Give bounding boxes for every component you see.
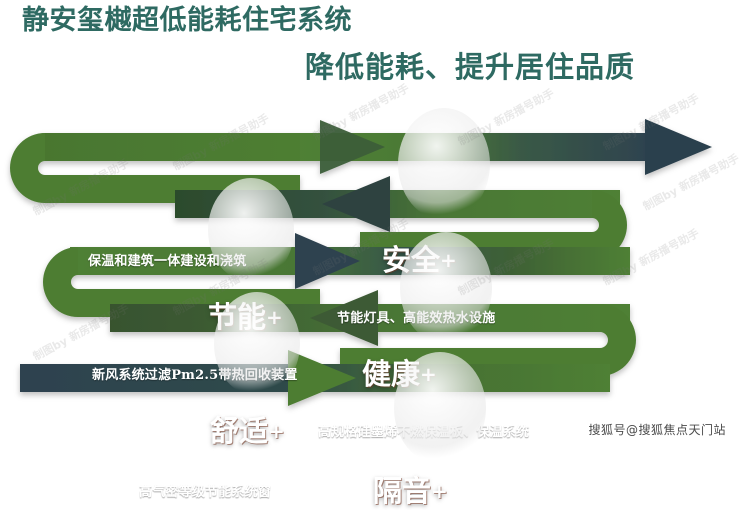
footer-watermark: 搜狐号@搜狐焦点天门站 xyxy=(588,421,726,438)
row-1-description: 保温和建筑一体建设和浇筑 xyxy=(88,250,246,269)
row-2-keyword-text: 节能 xyxy=(208,300,266,334)
row-5-description: 高气密等级节能系统窗 xyxy=(139,481,271,500)
screenshot-root: 静安玺樾超低能耗住宅系统 降低能耗、提升居住品质 xyxy=(0,0,740,450)
row-4-plus: + xyxy=(268,419,285,443)
row-3-description: 新风系统过滤Pm2.5带热回收装置 xyxy=(92,364,298,383)
row-3-keyword-text: 健康 xyxy=(362,357,420,391)
row-1-keyword: 安全+ xyxy=(382,237,457,279)
row-2-band xyxy=(175,190,620,218)
row-3-arrowhead xyxy=(295,233,360,289)
row-1-plus: + xyxy=(440,248,457,272)
row-5-keyword-text: 隔音 xyxy=(373,474,431,508)
row-3-keyword: 健康+ xyxy=(362,351,437,393)
row-2-arrowhead xyxy=(322,176,390,232)
row-5-plus: + xyxy=(431,479,448,503)
row-1-arrowhead xyxy=(645,119,712,175)
row-2-plus: + xyxy=(266,305,283,329)
row-4-keyword: 舒适+ xyxy=(210,408,285,450)
row-5-keyword: 隔音+ xyxy=(373,468,448,510)
serpentine-flow-diagram: 保温和建筑一体建设和浇筑 安全+ 节能灯具、高能效热水设施 节能+ 新风系统过滤… xyxy=(0,112,740,432)
page-subtitle: 降低能耗、提升居住品质 xyxy=(305,52,635,84)
row-2-description: 节能灯具、高能效热水设施 xyxy=(337,307,495,326)
row-4-description: 高规格硅墨烯不燃保温板、保温系统 xyxy=(318,421,529,440)
row-1-inner-arrowhead xyxy=(320,120,385,174)
row-3-plus: + xyxy=(420,362,437,386)
row-1-keyword-text: 安全 xyxy=(382,243,440,277)
page-title: 静安玺樾超低能耗住宅系统 xyxy=(22,6,352,36)
row-2-keyword: 节能+ xyxy=(208,294,283,336)
row-4-keyword-text: 舒适 xyxy=(210,414,268,448)
